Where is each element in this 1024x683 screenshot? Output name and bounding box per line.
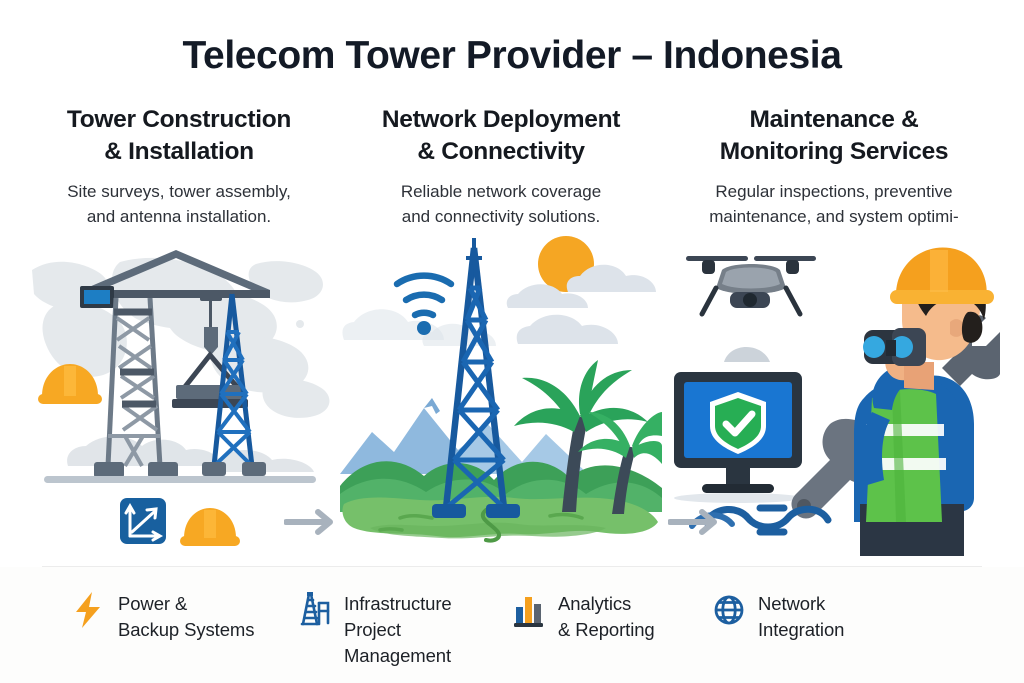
hard-hat-icon-bottom <box>180 508 240 546</box>
monitor-shadow <box>674 493 802 503</box>
feature-infrastructure-project-management: Infrastructure Project Management <box>298 567 506 669</box>
column-1-heading-line1: Tower Construction <box>24 104 334 136</box>
column-1-description-line1: Site surveys, tower assembly, <box>24 179 334 204</box>
monitor-shield <box>674 372 802 503</box>
feature-2-line2: Project <box>344 619 401 640</box>
feature-2-line1: Infrastructure <box>344 593 452 614</box>
feature-infrastructure-label: Infrastructure Project Management <box>344 591 452 669</box>
column-2-heading-line2: & Connectivity <box>340 136 662 168</box>
column-2-description: Reliable network coverage and connectivi… <box>340 179 662 229</box>
binoculars-icon <box>863 328 926 366</box>
column-3-heading: Maintenance & Monitoring Services <box>668 104 1000 168</box>
column-2-heading-line1: Network Deployment <box>340 104 662 136</box>
globe-icon <box>712 591 746 629</box>
feature-2-line3: Management <box>344 645 451 666</box>
feature-3-line1: Analytics <box>558 593 631 614</box>
feature-4-line2: Integration <box>758 619 844 640</box>
growth-chart-badge <box>120 498 166 544</box>
feature-analytics-label: Analytics & Reporting <box>558 591 655 643</box>
feature-network-integration-label: Network Integration <box>758 591 844 643</box>
columns-container: Tower Construction & Installation Site s… <box>0 104 1024 556</box>
feature-power-backup: Power & Backup Systems <box>72 567 284 643</box>
footer-features: Power & Backup Systems <box>0 567 1024 683</box>
column-2-illustration <box>340 236 662 556</box>
arrow-right-icon <box>286 512 330 532</box>
column-maintenance-monitoring: Maintenance & Monitoring Services Regula… <box>668 104 1000 556</box>
connector-arrow-1 <box>284 505 340 539</box>
binocular-lens-left <box>863 336 885 358</box>
column-3-description-line1: Regular inspections, preventive <box>668 179 1000 204</box>
column-1-heading-line2: & Installation <box>24 136 334 168</box>
column-3-description-line2: maintenance, and system optimi- <box>668 204 1000 229</box>
column-3-description: Regular inspections, preventive maintena… <box>668 179 1000 229</box>
column-tower-construction: Tower Construction & Installation Site s… <box>24 104 334 556</box>
clouds <box>342 265 656 346</box>
connector-arrow-2 <box>668 505 724 539</box>
column-1-heading: Tower Construction & Installation <box>24 104 334 168</box>
feature-analytics-reporting: Analytics & Reporting <box>512 567 708 643</box>
crane-cab-window <box>84 290 110 304</box>
page-title: Telecom Tower Provider – Indonesia <box>0 34 1024 78</box>
feature-power-backup-label: Power & Backup Systems <box>118 591 254 643</box>
hard-hat-worker <box>890 247 994 304</box>
column-2-description-line2: and connectivity solutions. <box>340 204 662 229</box>
column-2-description-line1: Reliable network coverage <box>340 179 662 204</box>
bar-chart-icon <box>512 591 546 629</box>
column-1-description: Site surveys, tower assembly, and antenn… <box>24 179 334 229</box>
feature-4-line1: Network <box>758 593 825 614</box>
ground-line <box>44 476 316 483</box>
feature-1-line1: Power & <box>118 593 187 614</box>
column-3-heading-line2: Monitoring Services <box>668 136 1000 168</box>
drone-camera <box>743 293 757 307</box>
column-network-deployment: Network Deployment & Connectivity Reliab… <box>340 104 662 556</box>
infographic-page: Telecom Tower Provider – Indonesia Tower… <box>0 0 1024 683</box>
drone-icon <box>686 256 816 314</box>
wifi-dot <box>417 321 431 335</box>
column-1-description-line2: and antenna installation. <box>24 204 334 229</box>
column-2-heading: Network Deployment & Connectivity <box>340 104 662 168</box>
feature-1-line2: Backup Systems <box>118 619 254 640</box>
column-3-heading-line1: Maintenance & <box>668 104 1000 136</box>
tower-ladder-icon <box>298 591 332 629</box>
technician-worker <box>854 247 994 556</box>
arrow-right-icon <box>670 512 714 532</box>
feature-network-integration: Network Integration <box>712 567 922 643</box>
wifi-signal-icon <box>397 276 451 315</box>
feature-3-line2: & Reporting <box>558 619 655 640</box>
drone-shadow <box>724 347 770 362</box>
lightning-bolt-icon <box>72 591 106 629</box>
